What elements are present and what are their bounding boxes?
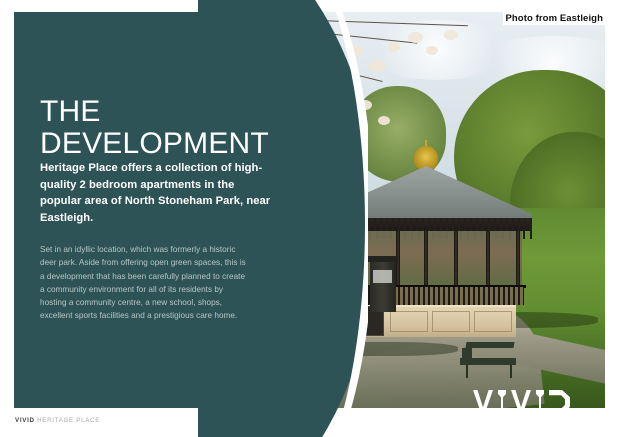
- slide-canvas: THEDEVELOPMENT Heritage Place offers a c…: [0, 0, 618, 437]
- bandstand-column: [424, 231, 428, 289]
- content-panel: THEDEVELOPMENT Heritage Place offers a c…: [14, 12, 314, 408]
- bandstand-roof-ribs: [320, 166, 532, 222]
- panel-body-text: Set in an idyllic location, which was fo…: [40, 243, 246, 323]
- base-panel: [390, 311, 428, 332]
- bandstand-column: [516, 231, 520, 289]
- base-panel: [474, 311, 512, 332]
- logo-letter-i-icon: [498, 390, 506, 408]
- bandstand-column: [454, 231, 458, 289]
- footer-brand: VIVID: [15, 417, 35, 424]
- park-bench: [460, 342, 516, 378]
- base-panel: [432, 311, 470, 332]
- page-title-line1: THE: [40, 95, 101, 128]
- page-title: THEDEVELOPMENT: [40, 96, 290, 160]
- page-title-line2: DEVELOPMENT: [40, 128, 290, 160]
- logo-letter-i-icon: [536, 390, 544, 408]
- footer: VIVID HERITAGE PLACE: [15, 417, 100, 424]
- ground-shadow: [298, 342, 458, 356]
- bandstand-railing: [328, 287, 524, 305]
- panel-subheading: Heritage Place offers a collection of hi…: [40, 160, 276, 226]
- logo-letter-v-icon: [473, 390, 493, 408]
- footer-project: HERITAGE PLACE: [37, 417, 100, 424]
- logo-letter-d-icon: [549, 390, 570, 408]
- vivid-logo: [473, 390, 570, 408]
- litter-bin: [370, 260, 396, 312]
- bandstand-column: [486, 231, 490, 289]
- logo-letter-v-icon: [511, 390, 531, 408]
- bandstand: [320, 140, 532, 312]
- photo-credit-caption: Photo from Eastleigh: [503, 12, 605, 25]
- litter-bin-sign: [373, 270, 392, 283]
- bandstand-column: [332, 231, 336, 289]
- litter-bin-lid: [368, 256, 398, 262]
